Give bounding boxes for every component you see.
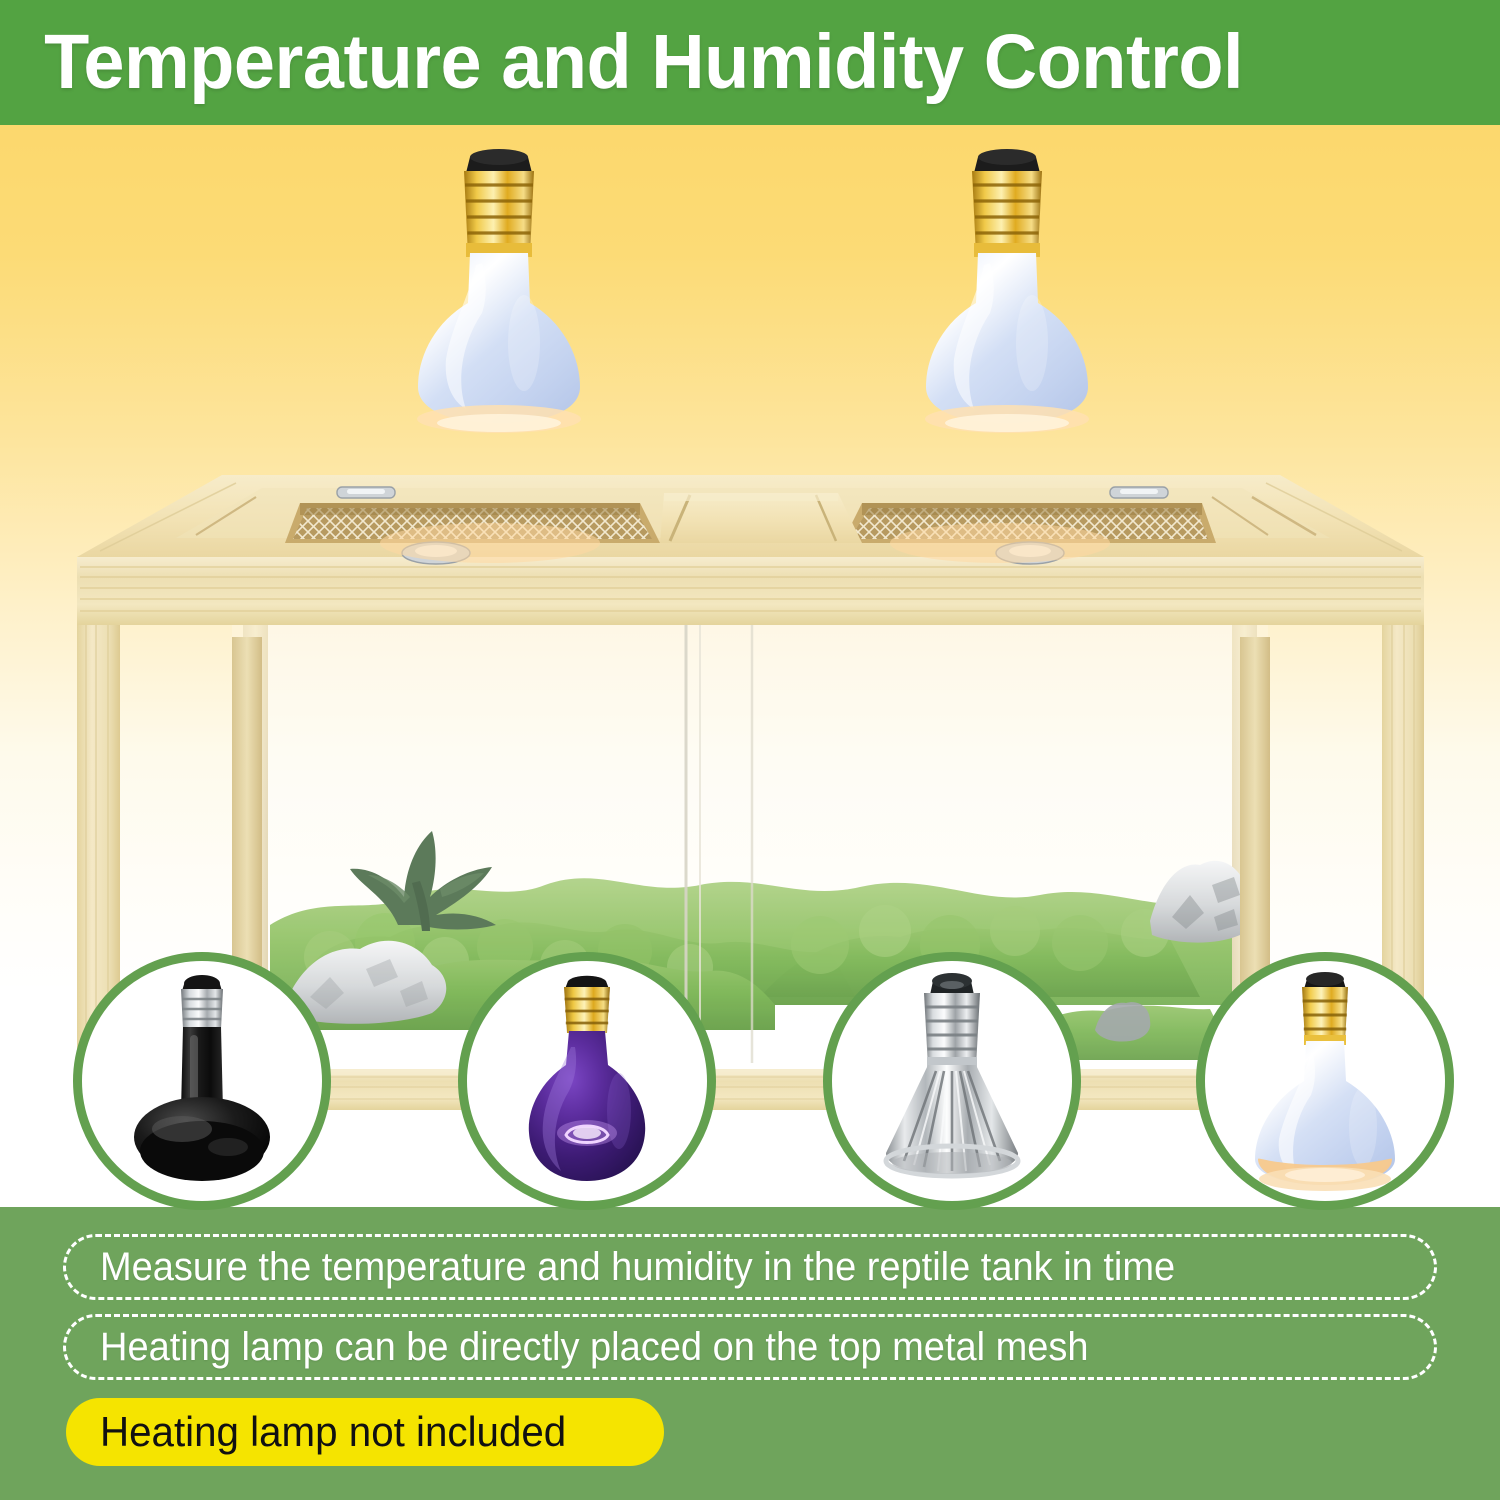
status-badge-lamp-not-included: Heating lamp not included [66,1398,664,1466]
feature-circle-uv-night-bulb[interactable] [458,952,716,1210]
feature-circle-chrome-reflector-bulb[interactable] [823,952,1081,1210]
mounted-heat-lamp-left [404,143,594,433]
callout-text-2: Heating lamp can be directly placed on t… [100,1327,1089,1367]
callout-text-1: Measure the temperature and humidity in … [100,1247,1175,1287]
page-header: Temperature and Humidity Control [0,0,1500,125]
feature-circle-ceramic-heat-emitter[interactable] [73,952,331,1210]
callout-measure-temperature-humidity: Measure the temperature and humidity in … [63,1234,1437,1300]
feature-circle-basking-spot-bulb[interactable] [1196,952,1454,1210]
callout-heating-lamp-placement: Heating lamp can be directly placed on t… [63,1314,1437,1380]
page-title: Temperature and Humidity Control [0,24,1243,101]
badge-label: Heating lamp not included [100,1411,566,1453]
mounted-heat-lamp-right [912,143,1102,433]
infographic-page: Temperature and Humidity Control [0,0,1500,1500]
